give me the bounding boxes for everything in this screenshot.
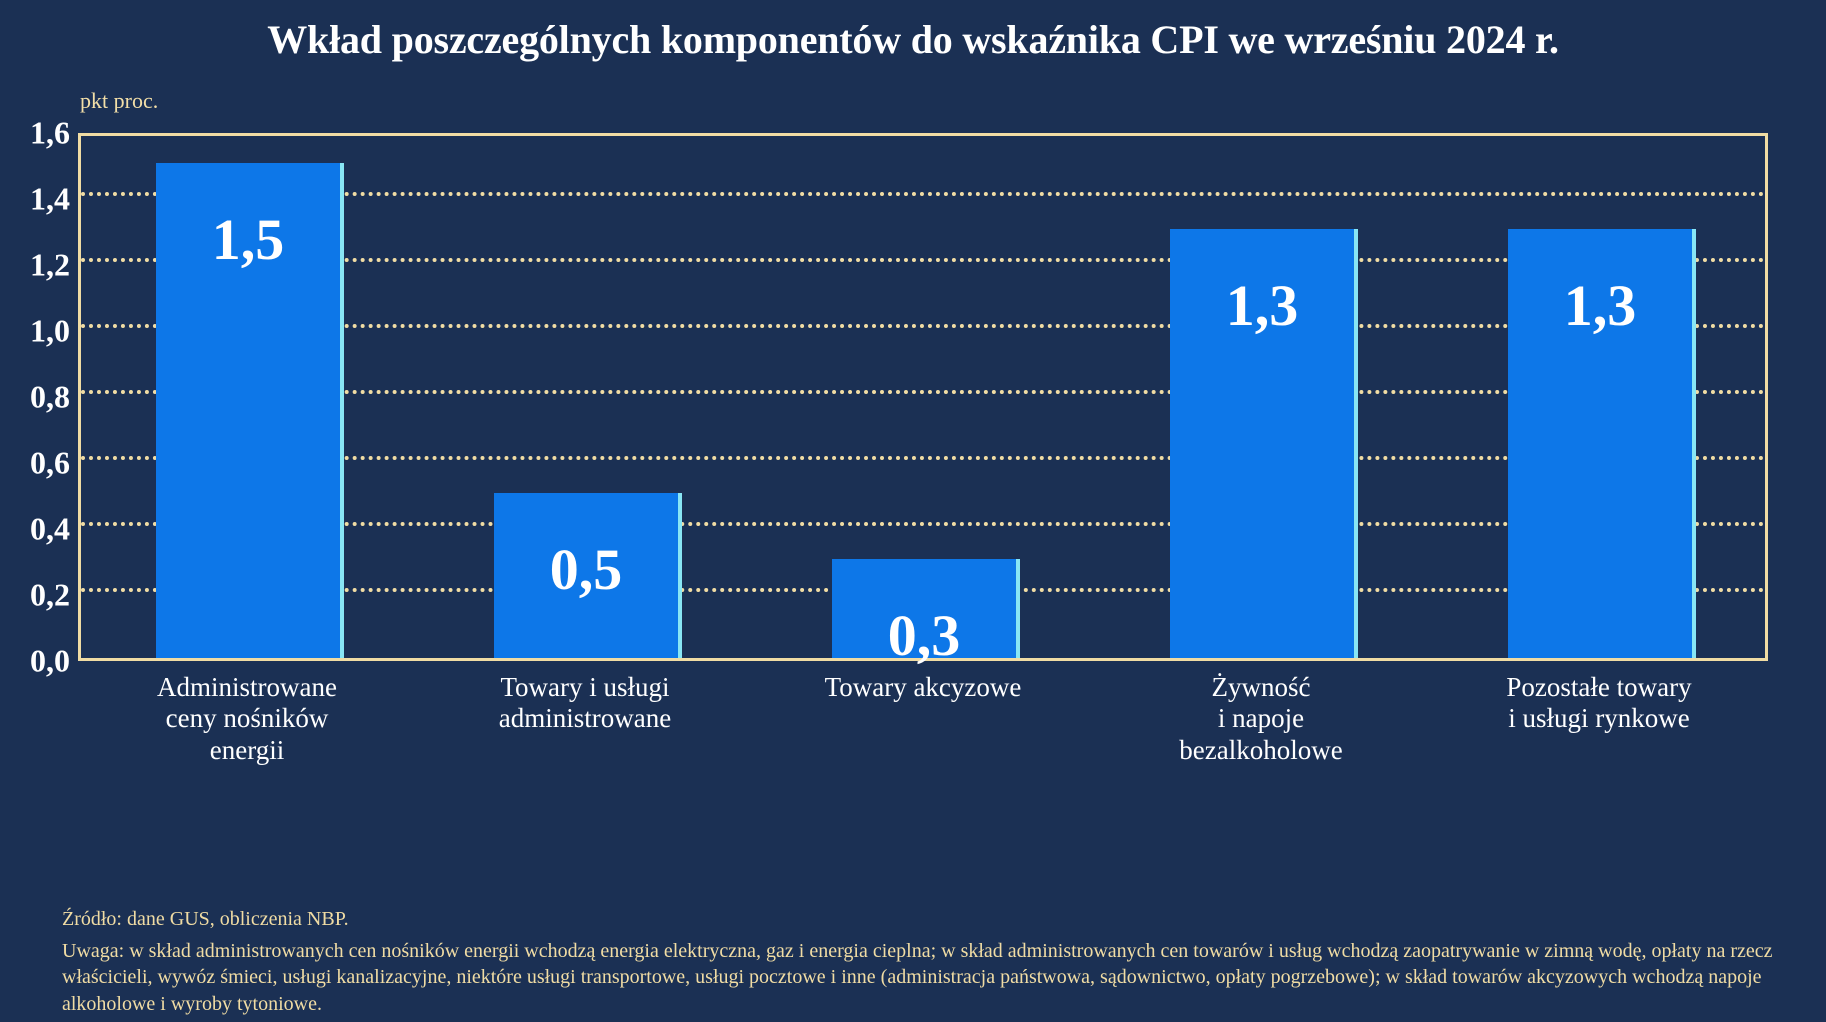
bar[interactable]: 0,5	[494, 493, 682, 658]
x-axis-category-line: Towary i usługi	[405, 672, 765, 703]
x-axis-category-label: Pozostałe towaryi usługi rynkowe	[1419, 672, 1779, 735]
x-axis-category-line: i usługi rynkowe	[1419, 703, 1779, 734]
x-axis-category-label: Administrowaneceny nośnikówenergii	[67, 672, 427, 766]
x-axis-category-line: i napoje	[1081, 703, 1441, 734]
x-axis-category-label: Towary akcyzowe	[743, 672, 1103, 703]
y-axis-tick-label: 0,8	[30, 379, 70, 416]
bar[interactable]: 1,3	[1170, 229, 1358, 658]
y-axis-unit-label: pkt proc.	[80, 88, 158, 114]
y-axis-tick-label: 0,2	[30, 577, 70, 614]
x-axis-category-line: Administrowane	[67, 672, 427, 703]
bar[interactable]: 1,3	[1508, 229, 1696, 658]
remark-note: Uwaga: w skład administrowanych cen nośn…	[62, 938, 1792, 1017]
source-note: Źródło: dane GUS, obliczenia NBP.	[62, 908, 349, 931]
x-axis-category-line: Towary akcyzowe	[743, 672, 1103, 703]
bar[interactable]: 0,3	[832, 559, 1020, 658]
bar-value-label: 1,3	[1170, 277, 1354, 335]
bar-value-label: 1,5	[156, 211, 340, 269]
x-axis-category-label: Towary i usługiadministrowane	[405, 672, 765, 735]
plot-inner: 1,50,50,31,31,3	[81, 136, 1765, 658]
bar[interactable]: 1,5	[156, 163, 344, 658]
chart-title: Wkład poszczególnych komponentów do wska…	[0, 16, 1826, 63]
x-axis-category-line: administrowane	[405, 703, 765, 734]
y-axis-tick-label: 0,0	[30, 643, 70, 680]
x-axis-category-label: Żywnośći napojebezalkoholowe	[1081, 672, 1441, 766]
x-axis-category-line: energii	[67, 735, 427, 766]
bar-value-label: 0,5	[494, 541, 678, 599]
x-axis-category-line: ceny nośników	[67, 703, 427, 734]
x-axis-category-line: bezalkoholowe	[1081, 735, 1441, 766]
y-axis-tick-label: 1,2	[30, 247, 70, 284]
y-axis-tick-label: 1,0	[30, 313, 70, 350]
x-axis-category-line: Żywność	[1081, 672, 1441, 703]
x-axis-category-line: Pozostałe towary	[1419, 672, 1779, 703]
y-axis-tick-label: 0,4	[30, 511, 70, 548]
plot-area: 1,50,50,31,31,3	[78, 133, 1768, 661]
y-axis-tick-label: 0,6	[30, 445, 70, 482]
y-axis-tick-label: 1,4	[30, 181, 70, 218]
bar-value-label: 1,3	[1508, 277, 1692, 335]
y-axis-tick-label: 1,6	[30, 115, 70, 152]
bar-value-label: 0,3	[832, 607, 1016, 665]
